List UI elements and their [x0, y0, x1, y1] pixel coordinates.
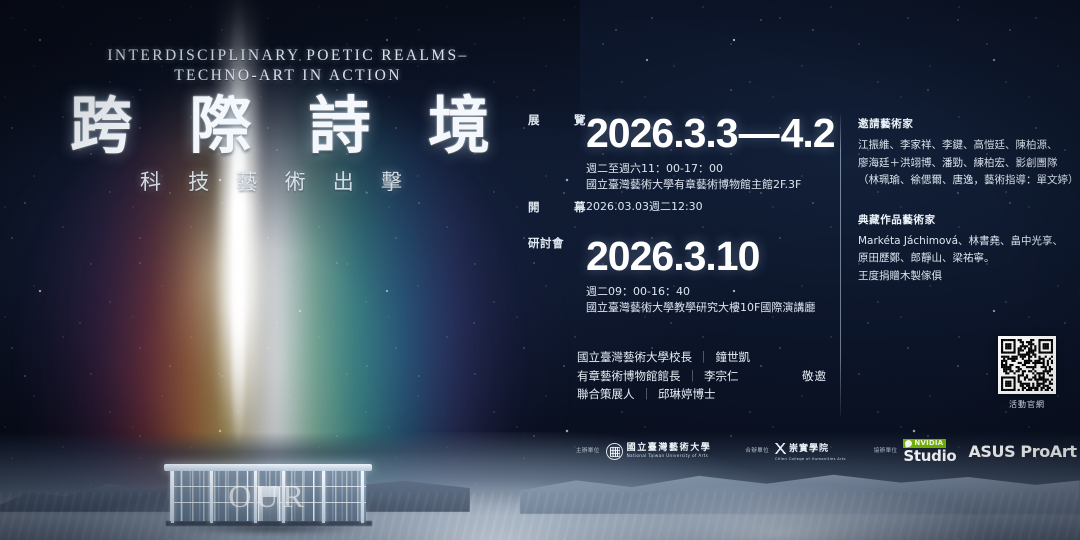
schedule-block: 展 覽 2026.3.3—4.2 週二至週六11：00-17：00 國立臺灣藝術… [528, 112, 828, 316]
sponsor-tag-supporter: 協辦單位 [874, 448, 898, 455]
seminar-venue: 國立臺灣藝術大學教學研究大樓10F國際演講廳 [586, 300, 828, 316]
subtitle-char-4: 術 [285, 166, 306, 196]
nvidia-studio-logo: NVIDIA Studio [903, 439, 956, 464]
ntua-seal-icon [606, 443, 623, 460]
nvidia-studio-name: Studio [903, 449, 956, 464]
qr-code-image[interactable] [998, 336, 1056, 394]
college-name-en: Chien College of Humanities Arts [775, 456, 846, 461]
college-logo: 崇實學院 Chien College of Humanities Arts [775, 441, 846, 461]
invitation-sep-2: ｜ [681, 367, 705, 386]
invitation-role-3: 聯合策展人 [577, 385, 635, 404]
invitation-line-3: 聯合策展人 ｜ 邱琳婷博士 [577, 385, 827, 404]
exhibition-body: 2026.3.3—4.2 週二至週六11：00-17：00 國立臺灣藝術大學有章… [586, 112, 835, 193]
exhibition-label: 展 覽 [528, 112, 586, 193]
exhibition-row: 展 覽 2026.3.3—4.2 週二至週六11：00-17：00 國立臺灣藝術… [528, 112, 828, 193]
exhibition-hours: 週二至週六11：00-17：00 [586, 161, 835, 177]
college-wordmark: 崇實學院 [775, 441, 829, 454]
collection-artists-line-3: 王度捐贈木製傢俱 [858, 268, 1074, 286]
opening-label-char-2: 幕 [574, 199, 586, 215]
building-roof [164, 464, 372, 471]
qr-code-caption: 活動官網 [996, 399, 1058, 410]
sponsor-tag-co-organizer: 合辦單位 [745, 448, 769, 455]
invitation-name-2: 李宗仁 [704, 367, 739, 386]
subtitle-char-1: 科 [140, 166, 161, 196]
building-overlay-wordmark: OUR [170, 474, 366, 518]
subtitle-char-5: 出 [333, 166, 354, 196]
qr-code-pattern [1001, 339, 1053, 391]
ntua-logo: 國立臺灣藝術大學 National Taiwan University of A… [606, 443, 712, 460]
vertical-divider [840, 114, 841, 416]
ntua-wordmark: 國立臺灣藝術大學 National Taiwan University of A… [627, 444, 712, 459]
headline-english-line-1: INTERDISCIPLINARY POETIC REALMS– [88, 46, 488, 66]
collection-artists-line-1: Markéta Jáchimová、林書堯、畠中光享、 [858, 233, 1074, 251]
invitation-name-3: 邱琳婷博士 [658, 385, 716, 404]
invitation-closing: 敬邀 [802, 367, 827, 386]
opening-datetime: 2026.03.03週二12:30 [586, 199, 828, 215]
invitation-line-1: 國立臺灣藝術大學校長 ｜ 鐘世凱 [577, 348, 827, 367]
sponsor-row: 主辦單位 國立臺灣藝術大學 National Taiwan University… [576, 434, 1076, 468]
opening-label-char-1: 開 [528, 199, 540, 215]
exhibition-date-end: 4.2 [781, 110, 835, 156]
invitation-sep-1: ｜ [692, 348, 716, 367]
poster-canvas: OUR INTERDISCIPLINARY POETIC REALMS– TEC… [0, 0, 1080, 540]
exhibition-date-dash: — [738, 110, 781, 156]
invitation-sep-3: ｜ [635, 385, 659, 404]
seminar-body: 2026.3.10 週二09：00-16：40 國立臺灣藝術大學教學研究大樓10… [586, 235, 828, 316]
brush-stroke-icon [775, 443, 786, 454]
sponsor-tag-organizer: 主辦單位 [576, 448, 600, 455]
subtitle-char-6: 擊 [381, 166, 402, 196]
invited-artists-line-3: （林珮瑜、徐偲爾、唐逸，藝術指導：單文婷） [858, 172, 1074, 190]
headline-english: INTERDISCIPLINARY POETIC REALMS– TECHNO-… [88, 46, 488, 86]
seminar-hours: 週二09：00-16：40 [586, 284, 828, 300]
invitation-block: 國立臺灣藝術大學校長 ｜ 鐘世凱 有章藝術博物館館長 ｜ 李宗仁 聯合策展人 ｜… [577, 348, 827, 404]
invitation-role-1: 國立臺灣藝術大學校長 [577, 348, 692, 367]
invitation-role-2: 有章藝術博物館館長 [577, 367, 681, 386]
museum-building-illustration: OUR [170, 464, 366, 532]
seminar-label: 研討會 [528, 235, 586, 316]
artists-spacer [858, 190, 1074, 212]
college-name-zh: 崇實學院 [789, 441, 829, 454]
opening-row: 開 幕 2026.03.03週二12:30 [528, 199, 828, 215]
headline-english-line-2: TECHNO-ART IN ACTION [88, 66, 488, 86]
qr-code-block[interactable]: 活動官網 [996, 336, 1058, 410]
building-shadow [140, 524, 402, 538]
sponsor-group-organizer: 主辦單位 國立臺灣藝術大學 National Taiwan University… [576, 443, 711, 460]
ntua-name-en: National Taiwan University of Arts [627, 454, 712, 458]
exhibition-venue: 國立臺灣藝術大學有章藝術博物館主館2F.3F [586, 177, 835, 193]
exhibition-label-char-1: 展 [528, 112, 540, 193]
headline-char-3: 詩 [309, 92, 371, 162]
invitation-line-2: 有章藝術博物館館長 ｜ 李宗仁 [577, 367, 827, 386]
artists-column: 邀請藝術家 江振維、李家祥、李鍵、高愷廷、陳柏源、 廖海廷＋洪翊博、潘勁、練柏宏… [858, 116, 1074, 285]
seminar-row: 研討會 2026.3.10 週二09：00-16：40 國立臺灣藝術大學教學研究… [528, 235, 828, 316]
headline-char-2: 際 [189, 92, 251, 162]
ntua-name-zh: 國立臺灣藝術大學 [627, 444, 712, 453]
invited-artists-line-2: 廖海廷＋洪翊博、潘勁、練柏宏、影創團隊 [858, 155, 1074, 173]
subtitle-char-3: 藝 [236, 166, 257, 196]
opening-body: 2026.03.03週二12:30 [586, 199, 828, 215]
exhibition-label-char-2: 覽 [574, 112, 586, 193]
opening-label: 開 幕 [528, 199, 586, 215]
exhibition-date-start: 2026.3.3 [586, 110, 738, 156]
sponsor-group-co-organizer: 合辦單位 崇實學院 Chien College of Humanities Ar… [745, 441, 845, 461]
nvidia-brand-name: NVIDIA [914, 440, 943, 447]
invitation-name-1: 鐘世凱 [716, 348, 751, 367]
headline-chinese: 跨 際 詩 境 [70, 92, 490, 162]
exhibition-date: 2026.3.3—4.2 [586, 112, 835, 154]
building-base [166, 521, 372, 526]
invited-artists-line-1: 江振維、李家祥、李鍵、高愷廷、陳柏源、 [858, 137, 1074, 155]
headline-char-4: 境 [428, 92, 490, 162]
headline-subtitle: 科 技 藝 術 出 擊 [140, 166, 402, 196]
seminar-date: 2026.3.10 [586, 235, 828, 277]
headline-char-1: 跨 [70, 92, 132, 162]
collection-artists-line-2: 原田歷鄭、郎靜山、梁祐寧。 [858, 250, 1074, 268]
schedule-spacer [528, 215, 828, 235]
invited-artists-heading: 邀請藝術家 [858, 116, 1074, 131]
subtitle-char-2: 技 [188, 166, 209, 196]
asus-proart-logo: ASUS ProArt [968, 442, 1076, 461]
nvidia-eye-icon [905, 439, 913, 447]
collection-artists-heading: 典藏作品藝術家 [858, 212, 1074, 227]
sponsor-group-supporters: 協辦單位 NVIDIA Studio ASUS ProArt [874, 439, 1077, 464]
